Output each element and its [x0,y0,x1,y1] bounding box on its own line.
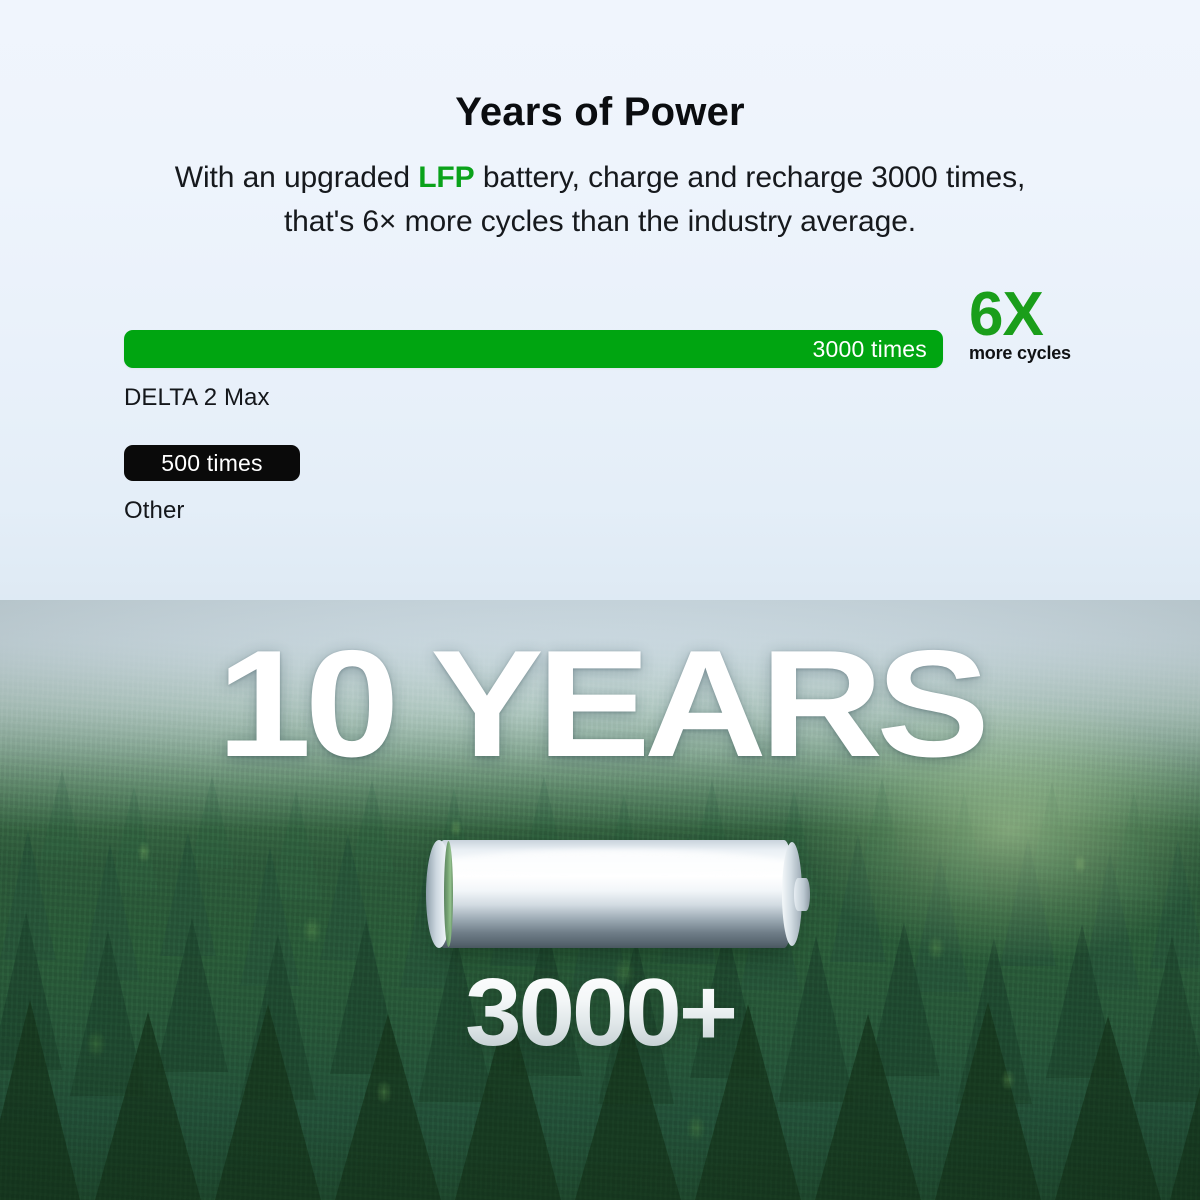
page-title: Years of Power [0,90,1200,134]
marketing-graphic: Years of Power With an upgraded LFP batt… [0,0,1200,1200]
bar-label-other: Other [124,497,1104,525]
subtitle-text-a: With an upgraded [175,161,418,194]
bar-value-other: 500 times [161,450,263,477]
bar-value-delta2max: 3000 times [812,336,943,363]
multiplier-caption: more cycles [969,343,1129,364]
battery-green-ring [444,841,453,947]
bar-label-delta2max: DELTA 2 Max [124,384,1104,412]
hero-cycles-text: 3000+ [0,965,1200,1061]
hero-years-text: 10 YEARS [0,628,1200,780]
cycle-comparison-chart: 3000 times DELTA 2 Max 6X more cycles 50… [124,330,1104,525]
battery-terminal [794,878,810,911]
subtitle-line-1: With an upgraded LFP battery, charge and… [0,156,1200,200]
bar-other: 500 times [124,445,300,481]
multiplier-value: 6X [969,288,1129,341]
page-subtitle: With an upgraded LFP battery, charge and… [0,156,1200,243]
chart-row-spacer [124,412,1104,445]
header-block: Years of Power With an upgraded LFP batt… [0,0,1200,243]
bar-delta2max: 3000 times [124,330,943,368]
chart-row-other: 500 times Other [124,445,1104,525]
subtitle-line-2: that's 6× more cycles than the industry … [0,200,1200,244]
battery-highlight [440,850,788,880]
chart-row-delta2max: 3000 times DELTA 2 Max 6X more cycles [124,330,1104,412]
multiplier-badge: 6X more cycles [969,288,1129,364]
battery-cell-icon [420,840,805,948]
subtitle-text-b: battery, charge and recharge 3000 times, [475,161,1026,194]
lfp-highlight: LFP [418,161,474,194]
